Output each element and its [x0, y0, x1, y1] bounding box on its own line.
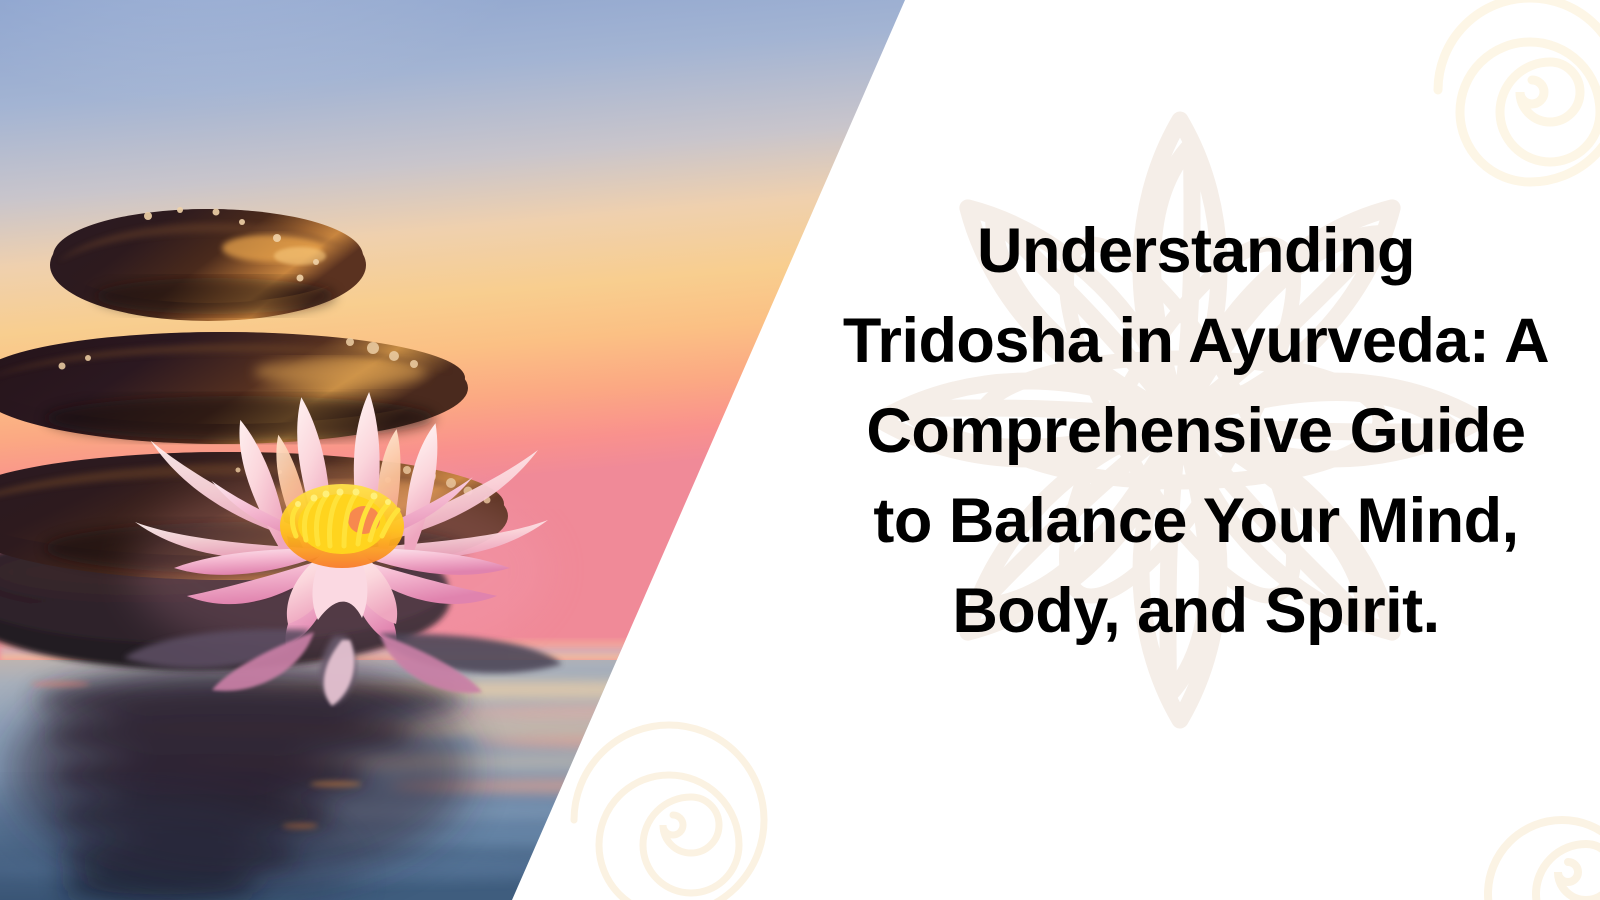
- title-line-2: Tridosha in Ayurveda: A: [792, 296, 1600, 386]
- spiral-top-right-icon: [1412, 0, 1600, 212]
- title-line-3: Comprehensive Guide: [792, 386, 1600, 476]
- title-line-4: to Balance Your Mind,: [792, 476, 1600, 566]
- title-line-1: Understanding: [792, 206, 1600, 296]
- spiral-bottom-right-icon: [1468, 772, 1600, 900]
- title-line-5: Body, and Spirit.: [792, 566, 1600, 656]
- page-title: Understanding Tridosha in Ayurveda: A Co…: [792, 206, 1600, 656]
- poster-canvas: Understanding Tridosha in Ayurveda: A Co…: [0, 0, 1600, 900]
